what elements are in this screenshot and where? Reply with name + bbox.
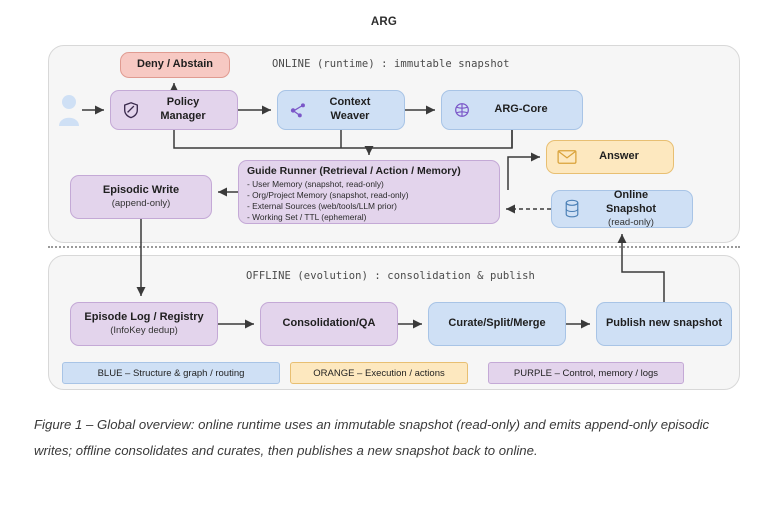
node-arg-core[interactable]: ARG-Core — [441, 90, 583, 130]
policy-manager-label: Policy Manager — [149, 96, 231, 124]
node-policy-manager[interactable]: Policy Manager — [110, 90, 238, 130]
guide-runner-item: - External Sources (web/tools/LLM prior) — [247, 201, 409, 212]
node-deny-abstain[interactable]: Deny / Abstain — [120, 52, 230, 78]
user-icon — [56, 93, 82, 127]
shield-icon — [121, 100, 141, 120]
node-episodic-write[interactable]: Episodic Write (append-only) — [70, 175, 212, 219]
guide-runner-items: - User Memory (snapshot, read-only) - Or… — [247, 179, 409, 223]
node-publish-new-snapshot[interactable]: Publish new snapshot — [596, 302, 732, 346]
curate-split-merge-label: Curate/Split/Merge — [448, 317, 545, 331]
database-icon — [562, 199, 582, 219]
legend-item-purple: PURPLE – Control, memory / logs — [488, 362, 684, 384]
figure-caption: Figure 1 – Global overview: online runti… — [34, 412, 734, 463]
answer-label: Answer — [585, 150, 667, 164]
episodic-write-title: Episodic Write — [103, 184, 179, 198]
legend-item-blue: BLUE – Structure & graph / routing — [62, 362, 280, 384]
guide-runner-item: - User Memory (snapshot, read-only) — [247, 179, 409, 190]
node-guide-runner[interactable]: Guide Runner (Retrieval / Action / Memor… — [238, 160, 500, 224]
consolidation-qa-label: Consolidation/QA — [283, 317, 376, 331]
episode-log-subtitle: (InfoKey dedup) — [110, 325, 178, 337]
online-snapshot-labels: Online Snapshot (read-only) — [590, 189, 686, 228]
guide-runner-item: - Org/Project Memory (snapshot, read-onl… — [247, 190, 409, 201]
page-title: ARG — [0, 16, 768, 28]
context-weaver-label: Context Weaver — [316, 96, 398, 124]
legend-blue-label: BLUE – Structure & graph / routing — [98, 368, 245, 379]
online-snapshot-subtitle: (read-only) — [590, 217, 672, 229]
node-answer[interactable]: Answer — [546, 140, 674, 174]
legend-orange-label: ORANGE – Execution / actions — [313, 368, 444, 379]
publish-new-snapshot-label: Publish new snapshot — [606, 317, 722, 331]
arg-core-label: ARG-Core — [480, 103, 576, 117]
envelope-icon — [557, 147, 577, 167]
legend-purple-label: PURPLE – Control, memory / logs — [514, 368, 658, 379]
node-curate-split-merge[interactable]: Curate/Split/Merge — [428, 302, 566, 346]
episodic-write-subtitle: (append-only) — [112, 198, 171, 210]
figure-canvas: ARG ONLINE (runtime) : immutable snapsho… — [0, 0, 768, 510]
node-consolidation-qa[interactable]: Consolidation/QA — [260, 302, 398, 346]
node-online-snapshot[interactable]: Online Snapshot (read-only) — [551, 190, 693, 228]
brain-icon — [452, 100, 472, 120]
online-section-label: ONLINE (runtime) : immutable snapshot — [272, 58, 510, 70]
deny-abstain-label: Deny / Abstain — [137, 58, 213, 72]
section-divider — [48, 246, 740, 248]
node-context-weaver[interactable]: Context Weaver — [277, 90, 405, 130]
legend-item-orange: ORANGE – Execution / actions — [290, 362, 468, 384]
online-snapshot-title: Online Snapshot — [590, 189, 672, 217]
offline-section-label: OFFLINE (evolution) : consolidation & pu… — [246, 270, 535, 282]
guide-runner-item: - Working Set / TTL (ephemeral) — [247, 212, 409, 223]
node-episode-log[interactable]: Episode Log / Registry (InfoKey dedup) — [70, 302, 218, 346]
guide-runner-title: Guide Runner (Retrieval / Action / Memor… — [247, 165, 461, 178]
episode-log-title: Episode Log / Registry — [84, 311, 203, 325]
graph-node-icon — [288, 100, 308, 120]
